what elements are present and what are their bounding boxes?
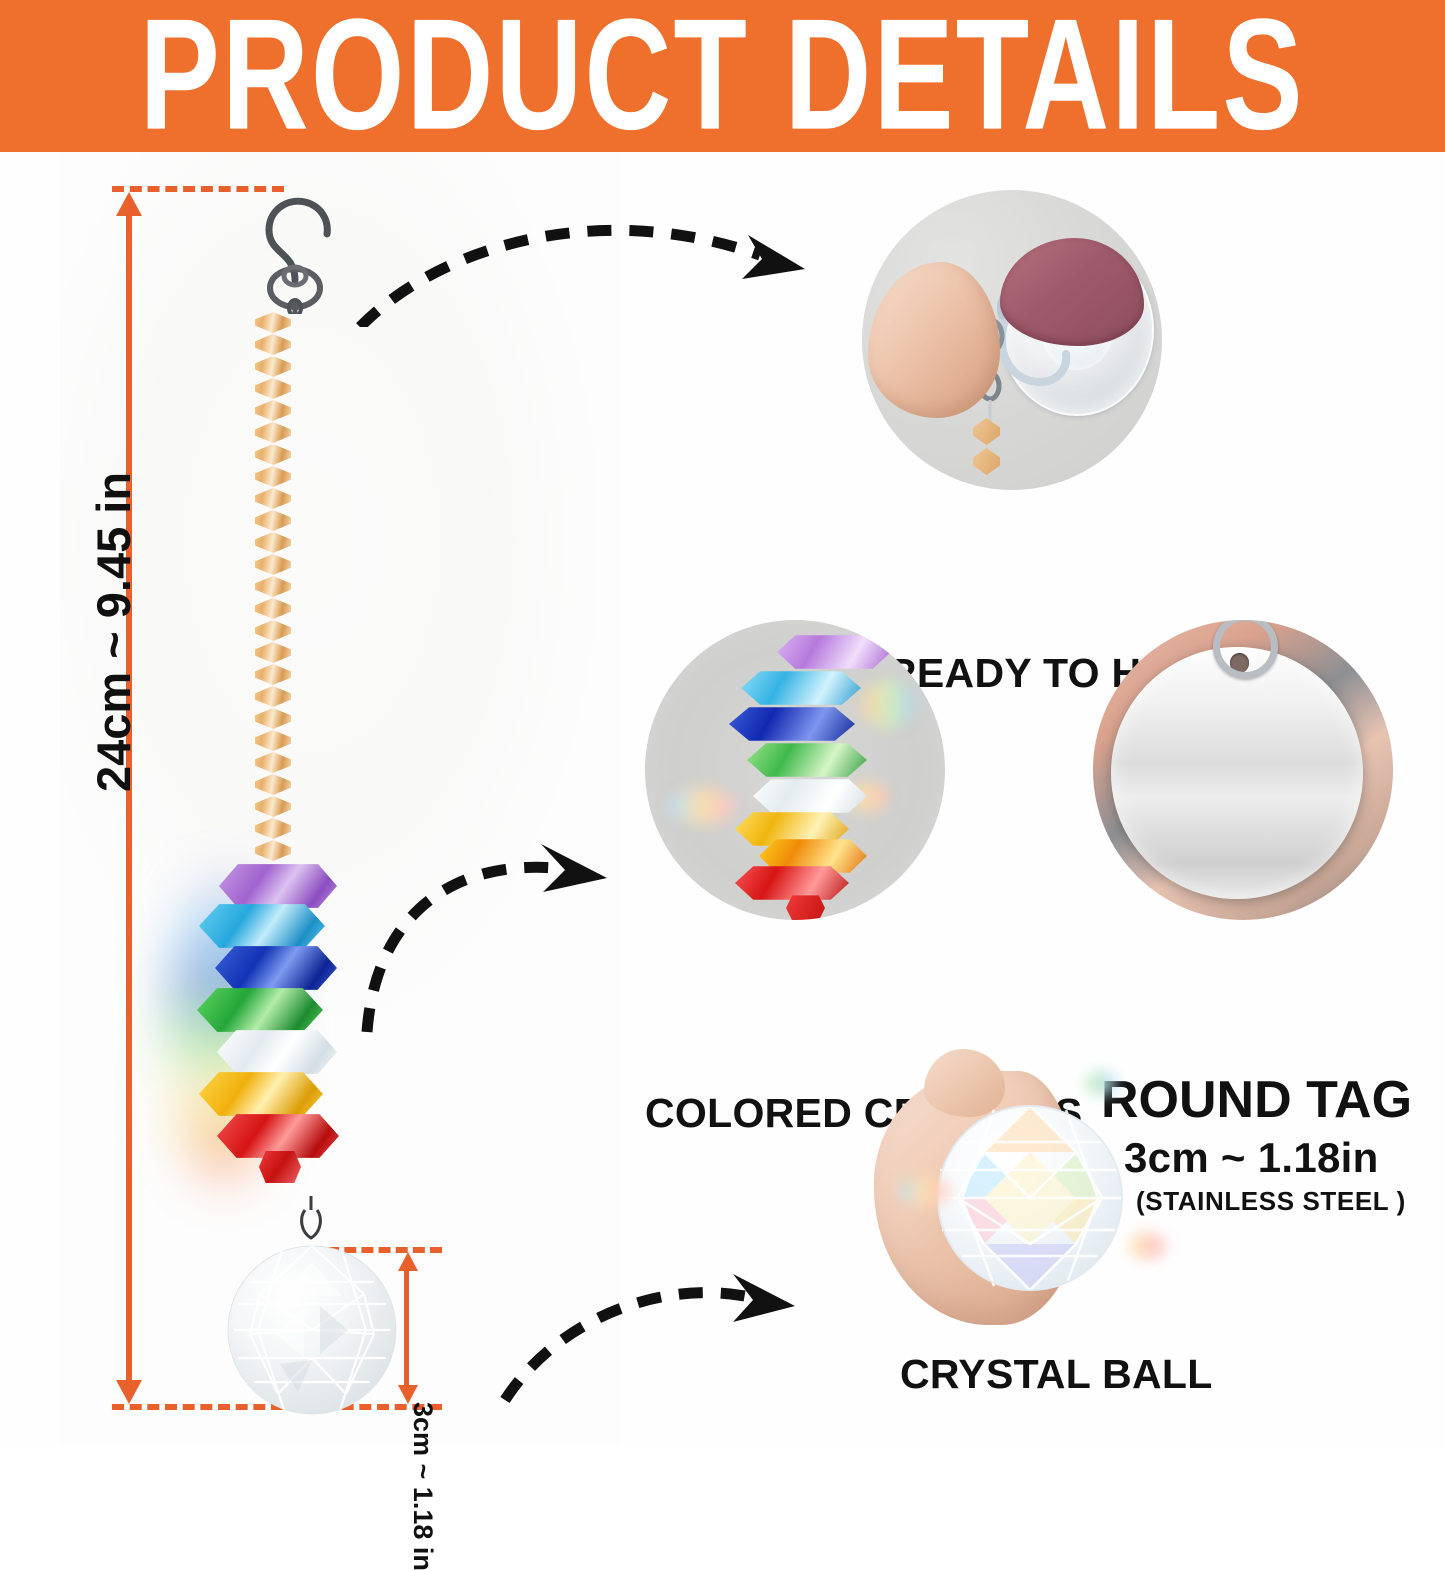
inset-crystal-violet <box>777 632 891 672</box>
crystal-cyan <box>199 900 325 952</box>
inset-round-tag <box>1093 620 1393 920</box>
dimension-line-overall <box>126 214 132 1382</box>
caption-crystal-ball: CRYSTAL BALL <box>900 1351 1213 1398</box>
round-tag-material: (STAINLESS STEEL ) <box>1136 1186 1406 1217</box>
prism-flare <box>1085 1071 1116 1096</box>
crystal-green <box>197 984 323 1036</box>
inset-crystal-clear <box>753 776 867 816</box>
prism-flare <box>1129 1232 1166 1260</box>
hero-product-image <box>185 184 435 1434</box>
stainless-steel-disc <box>1111 647 1363 899</box>
inset-crystal-green <box>747 740 867 780</box>
page-title: PRODUCT DETAILS <box>140 0 1305 152</box>
crystal-ball-pendant <box>220 1234 405 1419</box>
chakra-crystal-stack <box>175 860 445 1200</box>
header-banner: PRODUCT DETAILS <box>0 0 1445 152</box>
inset-crystal-red-tip <box>786 893 825 920</box>
prism-flare <box>861 680 915 728</box>
overall-length-label: 24cm ~ 9.45 in <box>86 472 141 792</box>
crystal-clear <box>217 1026 337 1078</box>
crystal-blue <box>215 942 337 994</box>
inset-ready-to-hang <box>862 190 1162 490</box>
bead-chain <box>255 312 291 872</box>
prism-flare <box>669 788 735 824</box>
dimension-arrow-down-overall <box>116 1380 142 1404</box>
crystal-yellow <box>199 1068 323 1120</box>
content-canvas: 24cm ~ 9.45 in 3cm ~ 1.18 in <box>0 152 1445 1445</box>
inset-crystal-ball <box>862 1040 1172 1350</box>
inset-crystal-blue <box>729 704 855 744</box>
dimension-arrow-up-overall <box>116 192 142 216</box>
s-hook-icon <box>235 184 355 314</box>
inset-colored-crystals <box>645 620 945 920</box>
inset-crystal-cyan <box>741 668 861 708</box>
crystal-red-tip <box>259 1148 301 1186</box>
